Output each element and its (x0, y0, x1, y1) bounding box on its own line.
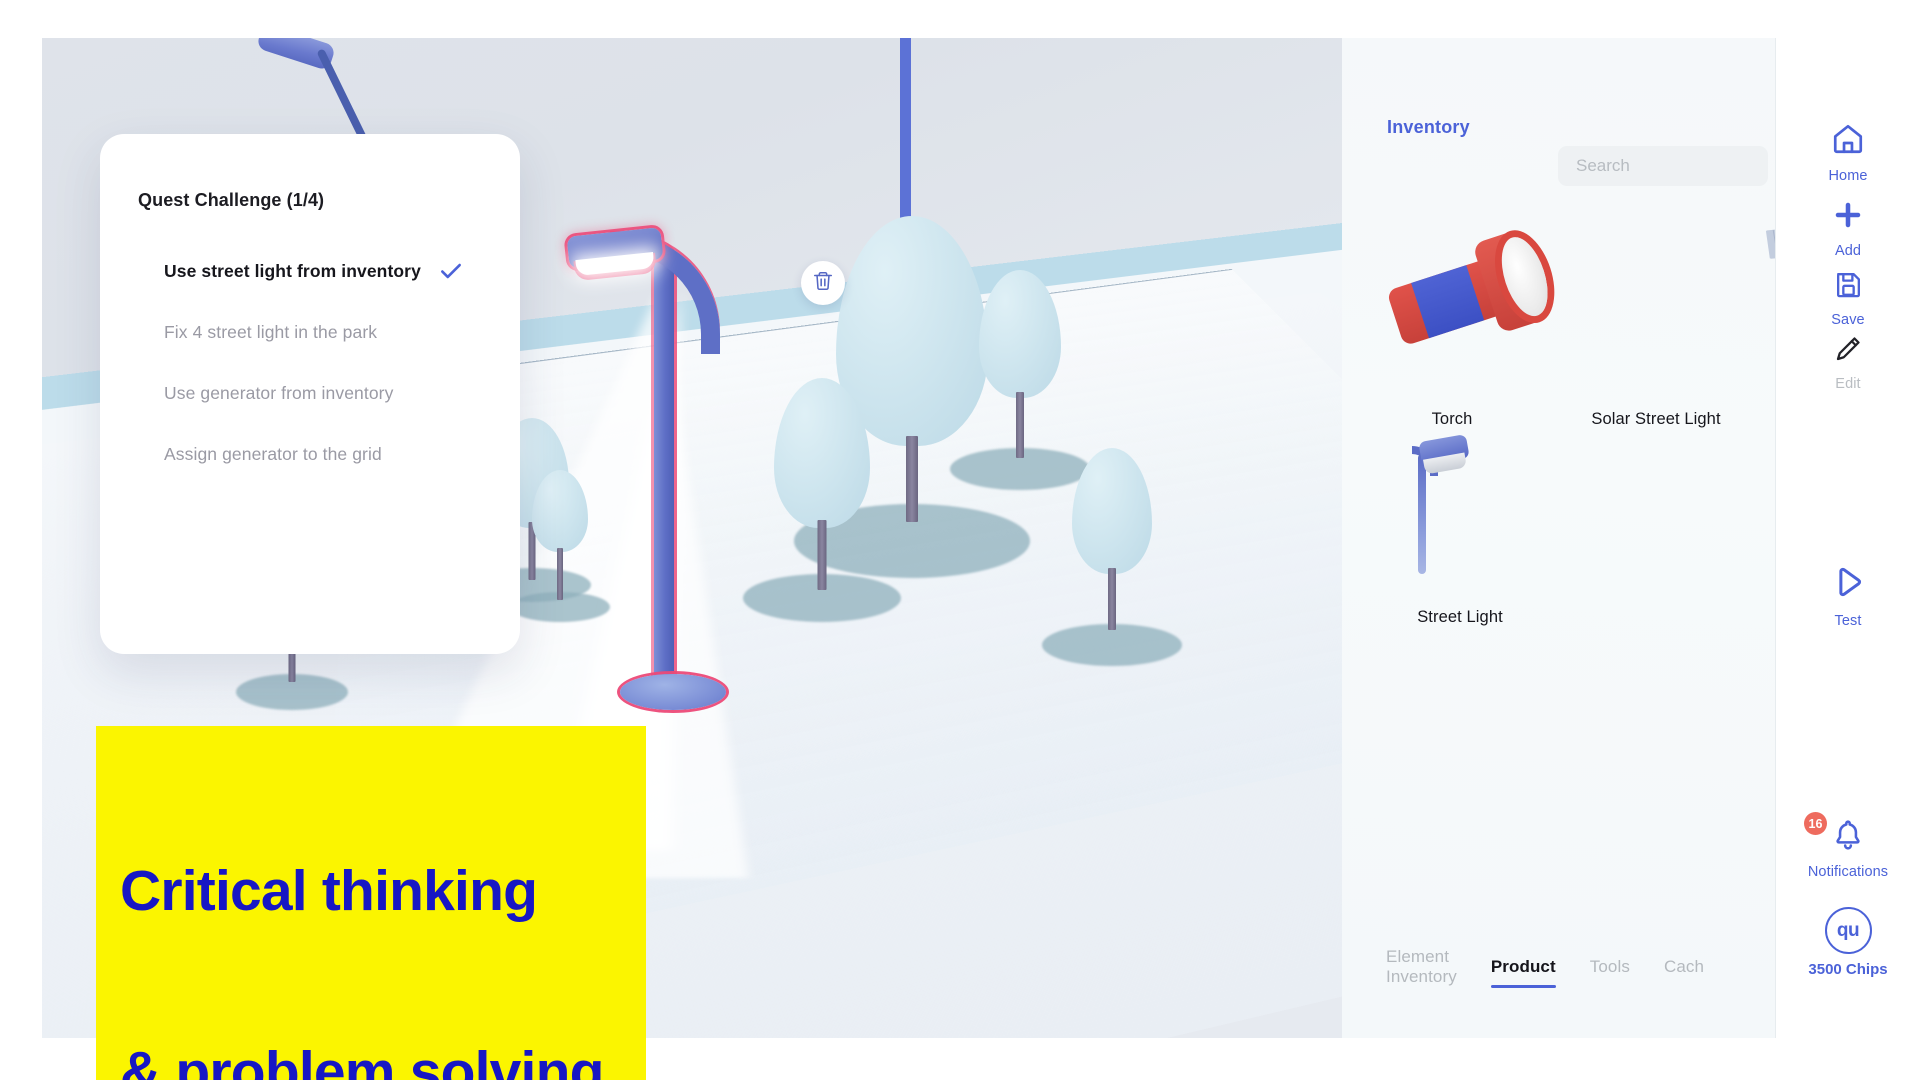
headline-line-2: & problem solving (120, 1042, 604, 1080)
toolbar-item-label: Notifications (1808, 864, 1888, 880)
notification-badge: 16 (1804, 812, 1827, 835)
bell-icon: 16 (1831, 818, 1865, 857)
tree-trunk (906, 436, 918, 522)
tree-trunk (818, 520, 827, 590)
tree-crown (1072, 448, 1152, 574)
floppy-disk-icon (1833, 269, 1864, 305)
toolbar-item-label: Home (1828, 168, 1867, 184)
play-icon (1829, 563, 1867, 606)
quest-list: Use street light from inventory Fix 4 st… (138, 257, 482, 468)
inventory-tabs: Element Inventory Product Tools Cach (1386, 947, 1712, 998)
toolbar-item-test[interactable]: Test (1776, 563, 1920, 629)
tab-product[interactable]: Product (1491, 957, 1556, 988)
headline-line-1: Critical thinking (120, 861, 604, 921)
search-input[interactable] (1558, 146, 1768, 186)
tab-element-inventory[interactable]: Element Inventory (1386, 947, 1457, 998)
lamp-base (620, 674, 726, 710)
quest-item[interactable]: Assign generator to the grid (138, 440, 482, 468)
inventory-title: Inventory (1387, 117, 1470, 138)
street-light-icon (1398, 438, 1518, 573)
delete-button[interactable] (801, 261, 845, 305)
torch-icon (1376, 203, 1584, 373)
quest-item-label: Use generator from inventory (138, 383, 393, 404)
pencil-icon (1833, 334, 1863, 369)
tree-shadow (1042, 624, 1182, 666)
quest-item[interactable]: Use street light from inventory (138, 257, 482, 285)
quest-challenge-card: Quest Challenge (1/4) Use street light f… (100, 134, 520, 654)
toolbar-item-label: Test (1835, 613, 1862, 629)
right-toolbar: Home Add Save (1776, 0, 1920, 1080)
selected-street-light[interactable] (562, 226, 792, 726)
toolbar-item-label: Save (1831, 312, 1864, 328)
check-icon (438, 258, 464, 284)
toolbar-item-notifications[interactable]: 16 Notifications (1776, 818, 1920, 880)
quest-item-label: Assign generator to the grid (138, 444, 382, 465)
inventory-item-label: Torch (1432, 410, 1473, 429)
toolbar-item-label: Add (1835, 243, 1861, 259)
toolbar-item-home[interactable]: Home (1776, 122, 1920, 184)
inventory-panel: Inventory Torch Solar Street Light Stree… (1342, 38, 1776, 1038)
tab-cache[interactable]: Cach (1664, 957, 1712, 988)
quest-item-label: Use street light from inventory (138, 261, 421, 282)
toolbar-item-chips[interactable]: qu 3500 Chips (1776, 907, 1920, 978)
chips-label: 3500 Chips (1808, 961, 1887, 978)
quest-title: Quest Challenge (1/4) (138, 190, 482, 211)
toolbar-item-label: Edit (1835, 376, 1860, 392)
toolbar-item-add[interactable]: Add (1776, 199, 1920, 259)
quest-item-label: Fix 4 street light in the park (138, 322, 377, 343)
plus-icon (1832, 199, 1864, 236)
home-icon (1831, 122, 1865, 161)
trash-icon (812, 270, 834, 297)
tree-crown (979, 270, 1061, 398)
qu-logo-icon: qu (1825, 907, 1872, 954)
inventory-item-label: Solar Street Light (1591, 410, 1720, 429)
app-root: Quest Challenge (1/4) Use street light f… (0, 0, 1920, 1080)
toolbar-item-save[interactable]: Save (1776, 269, 1920, 328)
check-icon-placeholder (438, 380, 464, 406)
quest-item[interactable]: Fix 4 street light in the park (138, 318, 482, 346)
solar-street-light-icon (1768, 206, 1776, 381)
scene-tree[interactable] (1042, 448, 1182, 668)
check-icon-placeholder (438, 319, 464, 345)
inventory-item-label: Street Light (1417, 608, 1503, 627)
toolbar-item-edit[interactable]: Edit (1776, 334, 1920, 392)
tree-trunk (1016, 392, 1024, 458)
tree-trunk (1108, 568, 1116, 630)
tab-tools[interactable]: Tools (1590, 957, 1630, 988)
check-icon-placeholder (438, 441, 464, 467)
headline-banner: Critical thinking & problem solving in t… (96, 726, 646, 1080)
quest-item[interactable]: Use generator from inventory (138, 379, 482, 407)
